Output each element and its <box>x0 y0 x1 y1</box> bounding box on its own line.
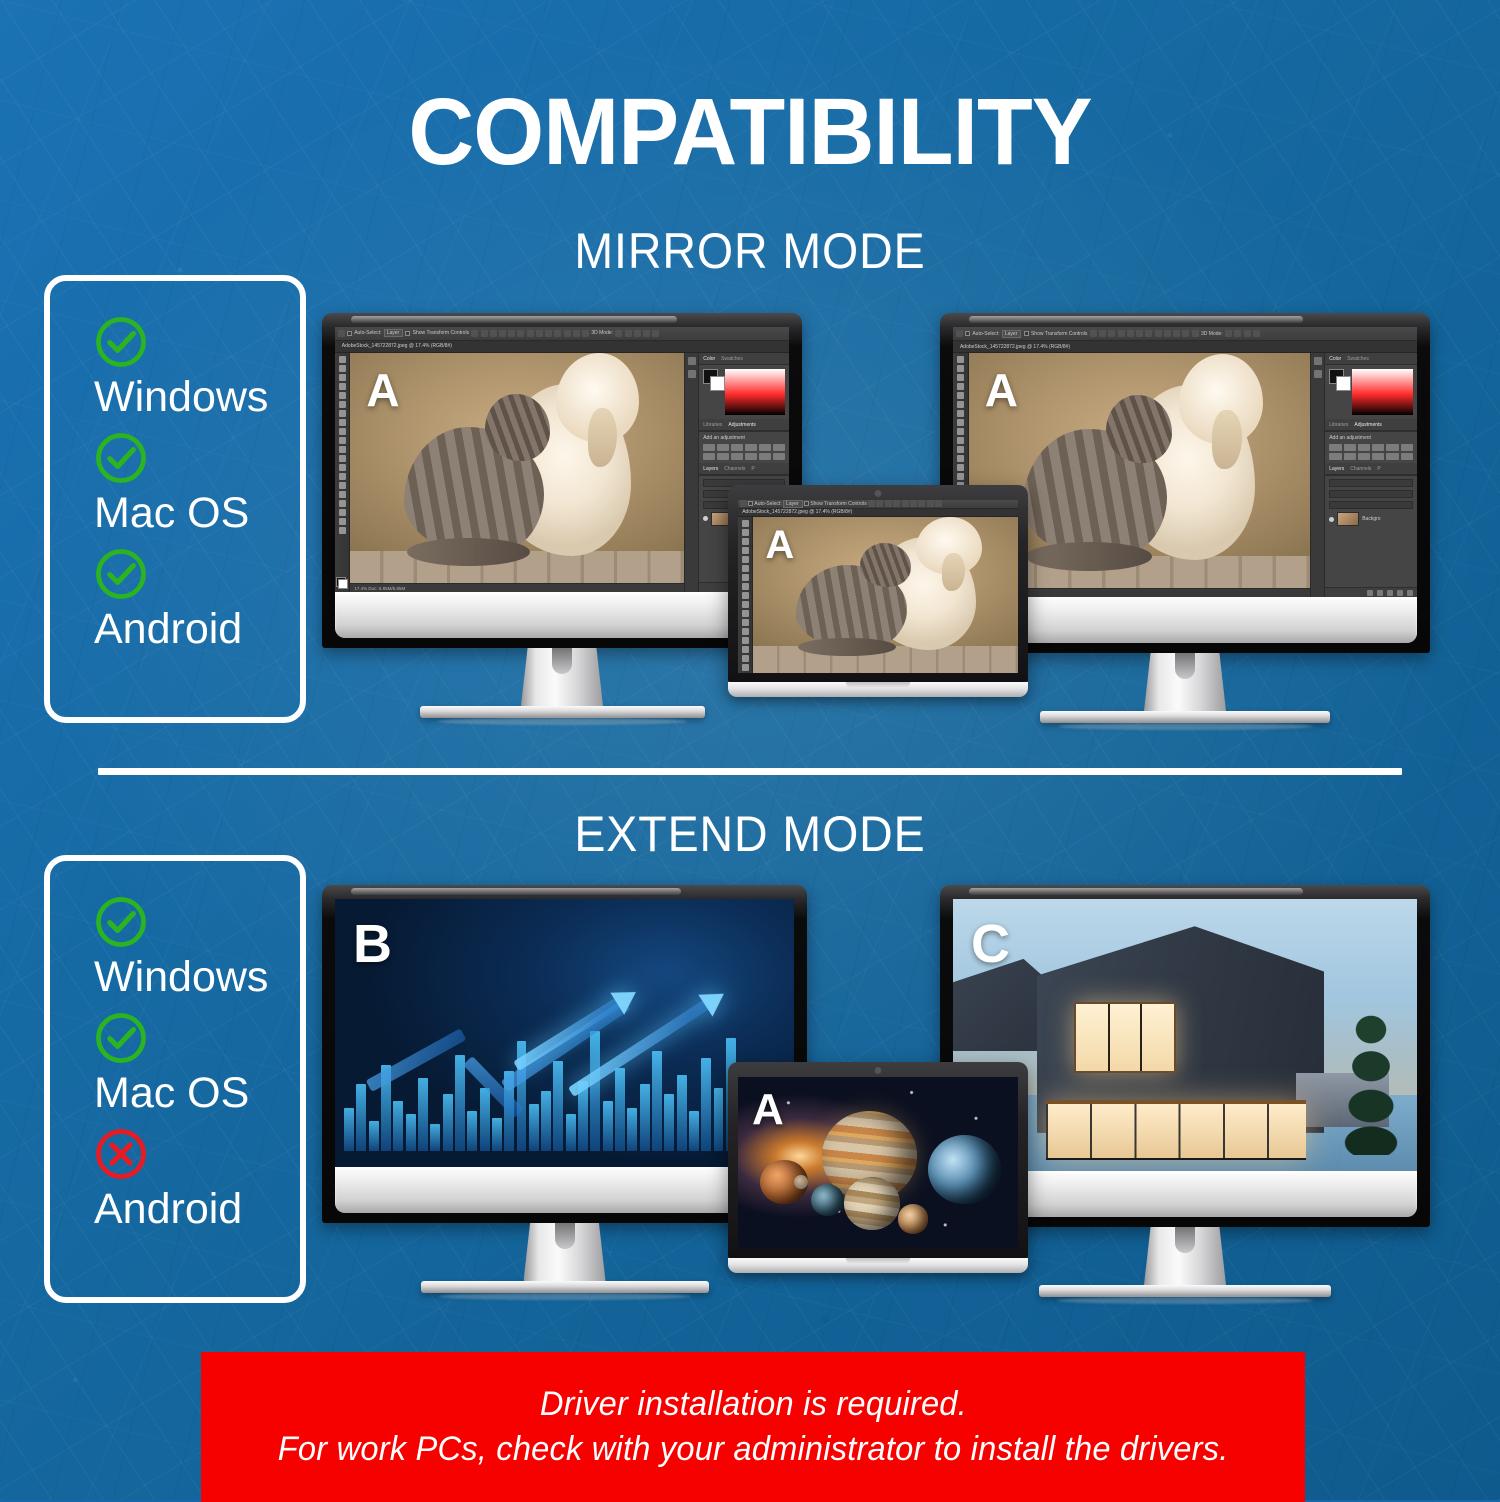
photoshop-right-rail <box>1310 353 1324 597</box>
planet-tan-moon <box>898 1204 929 1233</box>
color-tab[interactable]: Color <box>1329 356 1341 362</box>
check-circle-icon <box>94 895 148 949</box>
grid-icon[interactable] <box>935 500 942 507</box>
levels-adjustment-icon[interactable] <box>717 444 729 451</box>
distribute-left-icon[interactable] <box>527 330 534 337</box>
clone-stamp-tool-icon[interactable] <box>957 428 964 435</box>
distribute-left-icon[interactable] <box>918 500 925 507</box>
banner-line-2: For work PCs, check with your administra… <box>278 1430 1229 1469</box>
monitor-base <box>421 1281 709 1293</box>
space-planets-wallpaper: A <box>738 1077 1018 1249</box>
align-center-h-icon[interactable] <box>481 330 488 337</box>
mode-3d-label: 3D Mode: <box>591 330 613 336</box>
swatches-tab[interactable]: Swatches <box>1347 356 1369 362</box>
layers-tab[interactable]: Layers <box>703 466 718 472</box>
layer-thumbnail <box>1337 512 1359 526</box>
path-selection-tool-icon[interactable] <box>339 500 346 507</box>
eraser-tool-icon[interactable] <box>742 610 749 617</box>
os-row-android: Android <box>50 1127 300 1237</box>
align-bottom-icon[interactable] <box>1136 330 1143 337</box>
auto-select-label: Auto-Select: <box>754 501 781 507</box>
dodge-tool-icon[interactable] <box>339 473 346 480</box>
layer-style-icon[interactable] <box>1377 590 1383 596</box>
align-center-h-icon[interactable] <box>876 500 883 507</box>
move-tool-icon[interactable] <box>956 330 963 337</box>
align-bottom-icon[interactable] <box>910 500 917 507</box>
show-transform-checkbox[interactable] <box>804 501 809 506</box>
planet-earth <box>928 1135 1001 1204</box>
foreground-background-color-swatch[interactable] <box>336 577 348 589</box>
crop-tool-icon[interactable] <box>957 392 964 399</box>
photo-filter-adjustment-icon[interactable] <box>731 453 743 460</box>
show-transform-label: Show Transform Controls <box>1031 331 1087 337</box>
history-brush-tool-icon[interactable] <box>742 601 749 608</box>
rotate-3d-icon[interactable] <box>615 330 622 337</box>
photoshop-options-bar: Auto-Select: Layer Show Transform Contro… <box>738 500 1018 509</box>
adjustments-panel: Add an adjustment <box>699 431 789 463</box>
blur-tool-icon[interactable] <box>957 464 964 471</box>
paths-tab[interactable]: P <box>751 466 754 472</box>
screen-label-b: B <box>353 913 392 975</box>
hand-tool-icon[interactable] <box>339 518 346 525</box>
brush-tool-icon[interactable] <box>339 419 346 426</box>
color-panel-tabs: Color Swatches <box>699 353 789 365</box>
channels-tab[interactable]: Channels <box>724 466 745 472</box>
blend-mode-select[interactable] <box>1329 490 1413 498</box>
color-panel-tabs: Color Swatches <box>1325 353 1417 365</box>
photo-cat <box>404 427 544 556</box>
distribute-top-icon[interactable] <box>554 330 561 337</box>
section-divider <box>98 768 1402 775</box>
exposure-adjustment-icon[interactable] <box>1372 444 1384 451</box>
monitor-neck <box>521 648 603 706</box>
os-row-windows: Windows <box>50 315 300 425</box>
marquee-tool-icon[interactable] <box>742 529 749 536</box>
brush-tool-icon[interactable] <box>957 419 964 426</box>
pine-tree <box>1334 1002 1408 1154</box>
laptop-deck <box>728 1258 1028 1273</box>
path-selection-tool-icon[interactable] <box>742 664 749 671</box>
levels-adjustment-icon[interactable] <box>1344 444 1356 451</box>
channel-mixer-adjustment-icon[interactable] <box>745 453 757 460</box>
check-circle-icon <box>94 315 148 369</box>
marquee-tool-icon[interactable] <box>339 365 346 372</box>
distribute-right-icon[interactable] <box>1164 330 1171 337</box>
distribute-center-icon[interactable] <box>1155 330 1162 337</box>
color-swatch[interactable] <box>1329 369 1347 389</box>
lasso-tool-icon[interactable] <box>339 374 346 381</box>
dodge-tool-icon[interactable] <box>742 637 749 644</box>
gradient-tool-icon[interactable] <box>957 455 964 462</box>
libraries-tab[interactable]: Libraries <box>703 422 722 428</box>
os-label-macos: Mac OS <box>94 487 300 541</box>
laptop-deck <box>728 682 1028 697</box>
photoshop-panels: Color Swatches Libraries Adjustments <box>1324 353 1417 597</box>
crop-tool-icon[interactable] <box>742 556 749 563</box>
blur-tool-icon[interactable] <box>742 628 749 635</box>
align-middle-icon[interactable] <box>508 330 515 337</box>
os-label-macos: Mac OS <box>94 1067 300 1121</box>
adjustments-panel: Add an adjustment <box>1325 431 1417 463</box>
os-row-windows: Windows <box>50 895 300 1005</box>
grid-icon[interactable] <box>582 330 589 337</box>
distribute-middle-icon[interactable] <box>1182 330 1189 337</box>
eraser-tool-icon[interactable] <box>957 446 964 453</box>
monitor-neck <box>1144 653 1226 711</box>
eraser-tool-icon[interactable] <box>339 446 346 453</box>
brightness-adjustment-icon[interactable] <box>703 444 715 451</box>
photoshop-body: A <box>738 517 1018 673</box>
photo-filter-adjustment-icon[interactable] <box>1358 453 1370 460</box>
clone-stamp-tool-icon[interactable] <box>339 428 346 435</box>
document-tab[interactable]: AdobeStock_145722872.jpeg @ 17.4% (RGB/8… <box>742 509 852 515</box>
new-group-icon[interactable] <box>1387 590 1393 596</box>
color-balance-adjustment-icon[interactable] <box>1329 453 1341 460</box>
adjustments-panel-tabs: Libraries Adjustments <box>1325 419 1417 431</box>
history-brush-tool-icon[interactable] <box>957 437 964 444</box>
align-right-icon[interactable] <box>490 330 497 337</box>
color-ramp[interactable] <box>1352 369 1413 415</box>
monitor-base <box>1040 711 1330 723</box>
layer-name: Backgro <box>1362 516 1380 522</box>
lasso-tool-icon[interactable] <box>957 374 964 381</box>
photoshop-document-tabbar: AdobeStock_145722872.jpeg @ 17.4% (RGB/8… <box>335 341 789 353</box>
invert-adjustment-icon[interactable] <box>773 453 785 460</box>
pan-3d-icon[interactable] <box>1244 330 1251 337</box>
screen-label-a: A <box>765 523 794 568</box>
move-tool-icon[interactable] <box>742 520 749 527</box>
planet-moon-small <box>794 1175 808 1189</box>
photoshop-document-tabbar: AdobeStock_145722872.jpeg @ 17.4% (RGB/8… <box>738 509 1018 517</box>
history-panel-icon[interactable] <box>1314 357 1322 365</box>
color-ramp[interactable] <box>725 369 785 415</box>
align-top-icon[interactable] <box>893 500 900 507</box>
eyedropper-tool-icon[interactable] <box>339 401 346 408</box>
monitor-chin <box>335 1167 794 1213</box>
webcam-icon <box>876 1068 881 1073</box>
adjustment-icon-grid <box>703 444 785 460</box>
os-label-android: Android <box>94 603 300 657</box>
mirror-mode-heading: MIRROR MODE <box>53 222 1448 280</box>
screen-label-a: A <box>985 363 1018 417</box>
exposure-adjustment-icon[interactable] <box>745 444 757 451</box>
house-upper-windows <box>1074 1002 1176 1073</box>
roll-3d-icon[interactable] <box>625 330 632 337</box>
adjustments-tab[interactable]: Adjustments <box>728 422 756 428</box>
hue-saturation-adjustment-icon[interactable] <box>773 444 785 451</box>
auto-select-checkbox[interactable] <box>347 331 352 336</box>
photo-cat <box>796 565 907 649</box>
blur-tool-icon[interactable] <box>339 464 346 471</box>
distribute-center-icon[interactable] <box>536 330 543 337</box>
move-tool-icon[interactable] <box>957 356 964 363</box>
align-middle-icon[interactable] <box>1127 330 1134 337</box>
properties-panel-icon[interactable] <box>688 370 696 378</box>
layers-tab[interactable]: Layers <box>1329 466 1344 472</box>
distribute-top-icon[interactable] <box>1173 330 1180 337</box>
eyedropper-tool-icon[interactable] <box>742 565 749 572</box>
layers-panel-tabs: Layers Channels P <box>1325 463 1417 475</box>
eyedropper-tool-icon[interactable] <box>957 401 964 408</box>
show-transform-checkbox[interactable] <box>405 331 410 336</box>
roll-3d-icon[interactable] <box>1234 330 1241 337</box>
distribute-middle-icon[interactable] <box>564 330 571 337</box>
slide-3d-icon[interactable] <box>1253 330 1260 337</box>
monitor-screen: Auto-Select: Layer Show Transform Contro… <box>335 327 789 592</box>
align-right-icon[interactable] <box>1108 330 1115 337</box>
curves-adjustment-icon[interactable] <box>731 444 743 451</box>
monitor-neck <box>524 1223 606 1281</box>
marquee-tool-icon[interactable] <box>957 365 964 372</box>
photo-cat <box>1023 429 1166 561</box>
monitor-base-shadow <box>1058 723 1313 730</box>
layer-kind-filter[interactable] <box>1329 479 1413 487</box>
zoom-tool-icon[interactable] <box>339 527 346 534</box>
rectangle-tool-icon[interactable] <box>339 509 346 516</box>
scale-3d-icon[interactable] <box>652 330 659 337</box>
adjustments-tab[interactable]: Adjustments <box>1354 422 1382 428</box>
brightness-adjustment-icon[interactable] <box>1329 444 1341 451</box>
black-white-adjustment-icon[interactable] <box>1344 453 1356 460</box>
webcam-icon <box>876 491 881 496</box>
color-balance-adjustment-icon[interactable] <box>703 453 715 460</box>
pan-3d-icon[interactable] <box>634 330 641 337</box>
libraries-tab[interactable]: Libraries <box>1329 422 1348 428</box>
photoshop-window: Auto-Select: Layer Show Transform Contro… <box>335 327 789 592</box>
monitor-base-shadow <box>437 718 687 725</box>
distribute-bottom-icon[interactable] <box>573 330 580 337</box>
adjustments-hint: Add an adjustment <box>703 435 745 441</box>
vibrance-adjustment-icon[interactable] <box>759 444 771 451</box>
monitor-base-shadow <box>439 1293 691 1300</box>
screen-label-a: A <box>366 363 399 417</box>
adjustment-icon-grid <box>1329 444 1413 460</box>
magic-wand-tool-icon[interactable] <box>742 547 749 554</box>
swatches-tab[interactable]: Swatches <box>721 356 743 362</box>
layer-select[interactable]: Layer <box>384 329 404 337</box>
align-top-icon[interactable] <box>499 330 506 337</box>
curves-adjustment-icon[interactable] <box>1358 444 1370 451</box>
magic-wand-tool-icon[interactable] <box>339 383 346 390</box>
photoshop-canvas: A <box>753 517 1018 673</box>
mode-3d-label: 3D Mode: <box>1201 331 1223 337</box>
os-label-windows: Windows <box>94 951 300 1005</box>
check-circle-icon <box>94 431 148 485</box>
channel-mixer-adjustment-icon[interactable] <box>1372 453 1384 460</box>
layers-panel-tabs: Layers Channels P <box>699 463 789 475</box>
delete-layer-icon[interactable] <box>1407 590 1413 596</box>
distribute-left-icon[interactable] <box>1145 330 1152 337</box>
align-center-h-icon[interactable] <box>1099 330 1106 337</box>
photoshop-toolbar <box>335 353 350 592</box>
auto-select-checkbox[interactable] <box>965 331 970 336</box>
mirror-os-compatibility-panel: Windows Mac OS Android <box>44 275 306 723</box>
stock-chart-wallpaper: B <box>335 899 794 1167</box>
document-tab[interactable]: AdobeStock_145722872.jpeg @ 17.4% (RGB/8… <box>960 344 1070 350</box>
pen-tool-icon[interactable] <box>742 646 749 653</box>
type-tool-icon[interactable] <box>742 655 749 662</box>
move-tool-icon[interactable] <box>339 356 346 363</box>
healing-brush-tool-icon[interactable] <box>957 410 964 417</box>
color-panel <box>1325 365 1417 419</box>
align-bottom-icon[interactable] <box>517 330 524 337</box>
extend-os-compatibility-panel: Windows Mac OS Android <box>44 855 306 1303</box>
screen-label-a: A <box>752 1085 784 1135</box>
align-left-icon[interactable] <box>471 330 478 337</box>
check-circle-icon <box>94 1011 148 1065</box>
house-lower-windows <box>1046 1100 1306 1160</box>
monitor-base <box>420 706 705 718</box>
photoshop-options-bar: Auto-Select: Layer Show Transform Contro… <box>335 327 789 341</box>
crop-tool-icon[interactable] <box>339 392 346 399</box>
document-tab[interactable]: AdobeStock_145722872.jpeg @ 17.4% (RGB/8… <box>342 343 452 349</box>
align-right-icon[interactable] <box>885 500 892 507</box>
photoshop-options-bar: Auto-Select: Layer Show Transform Contro… <box>953 327 1417 341</box>
lock-options-row[interactable] <box>1329 501 1413 509</box>
align-middle-icon[interactable] <box>902 500 909 507</box>
monitor-screen: B <box>335 899 794 1167</box>
laptop-lid: A <box>728 1062 1028 1258</box>
color-lookup-adjustment-icon[interactable] <box>1386 453 1398 460</box>
align-left-icon[interactable] <box>868 500 875 507</box>
color-swatch[interactable] <box>703 369 721 389</box>
page-title: COMPATIBILITY <box>30 78 1470 187</box>
layer-select[interactable]: Layer <box>1002 330 1022 338</box>
screen-label-c: C <box>971 913 1010 975</box>
laptop-screen: Auto-Select: Layer Show Transform Contro… <box>738 500 1018 673</box>
layer-visibility-icon[interactable] <box>703 516 708 521</box>
slide-3d-icon[interactable] <box>643 330 650 337</box>
monitor-base <box>1039 1285 1331 1297</box>
show-transform-label: Show Transform Controls <box>810 501 866 507</box>
rotate-3d-icon[interactable] <box>1225 330 1232 337</box>
invert-adjustment-icon[interactable] <box>1401 453 1413 460</box>
photoshop-toolbar <box>738 517 753 673</box>
mirror-laptop: Auto-Select: Layer Show Transform Contro… <box>728 485 1028 697</box>
auto-select-label: Auto-Select: <box>972 331 999 337</box>
infographic-page: COMPATIBILITY MIRROR MODE Windows Mac OS… <box>0 0 1500 1500</box>
move-tool-icon[interactable] <box>338 330 345 337</box>
os-row-macos: Mac OS <box>50 431 300 541</box>
properties-panel-icon[interactable] <box>1314 370 1322 378</box>
lasso-tool-icon[interactable] <box>742 538 749 545</box>
align-left-icon[interactable] <box>1090 330 1097 337</box>
layer-row-background[interactable]: Backgro <box>1329 512 1413 526</box>
planet-saturn <box>844 1177 900 1230</box>
clone-stamp-tool-icon[interactable] <box>742 592 749 599</box>
healing-brush-tool-icon[interactable] <box>339 410 346 417</box>
black-white-adjustment-icon[interactable] <box>717 453 729 460</box>
photoshop-body: A 17.4% Doc: 6.85M/6.85M Color Swatches <box>335 353 789 592</box>
layer-visibility-icon[interactable] <box>1329 517 1334 522</box>
move-tool-icon[interactable] <box>740 500 747 507</box>
os-row-android: Android <box>50 547 300 657</box>
layers-panel: Backgro <box>1325 475 1417 587</box>
brush-tool-icon[interactable] <box>742 583 749 590</box>
type-tool-icon[interactable] <box>339 491 346 498</box>
auto-select-label: Auto-Select: <box>354 330 381 336</box>
healing-brush-tool-icon[interactable] <box>742 574 749 581</box>
vibrance-adjustment-icon[interactable] <box>1386 444 1398 451</box>
cat-and-dog-photo <box>350 353 684 592</box>
laptop-lid: Auto-Select: Layer Show Transform Contro… <box>728 485 1028 682</box>
channels-tab[interactable]: Channels <box>1350 466 1371 472</box>
color-panel <box>699 365 789 419</box>
driver-notice-banner: Driver installation is required. For wor… <box>201 1352 1305 1502</box>
show-transform-checkbox[interactable] <box>1024 331 1029 336</box>
laptop-screen: A <box>738 1077 1018 1249</box>
color-lookup-adjustment-icon[interactable] <box>759 453 771 460</box>
photoshop-canvas: A 17.4% Doc: 6.85M/6.85M <box>350 353 684 592</box>
distribute-right-icon[interactable] <box>545 330 552 337</box>
show-transform-label: Show Transform Controls <box>413 330 469 336</box>
link-layers-icon[interactable] <box>1367 590 1373 596</box>
os-label-android: Android <box>94 1183 300 1237</box>
layer-select[interactable]: Layer <box>783 500 803 508</box>
adjustments-hint: Add an adjustment <box>1329 435 1371 441</box>
magic-wand-tool-icon[interactable] <box>957 383 964 390</box>
check-circle-icon <box>94 547 148 601</box>
photoshop-window: Auto-Select: Layer Show Transform Contro… <box>738 500 1018 673</box>
gradient-tool-icon[interactable] <box>339 455 346 462</box>
history-panel-icon[interactable] <box>688 357 696 365</box>
photoshop-status-bar: 17.4% Doc: 6.85M/6.85M <box>350 583 684 592</box>
photoshop-document-tabbar: AdobeStock_145722872.jpeg @ 17.4% (RGB/8… <box>953 341 1417 353</box>
layers-panel-footer <box>1325 587 1417 597</box>
new-layer-icon[interactable] <box>1397 590 1403 596</box>
distribute-center-icon[interactable] <box>927 500 934 507</box>
monitor-base-shadow <box>1057 1297 1313 1304</box>
monitor-chin <box>335 592 789 638</box>
auto-select-checkbox[interactable] <box>748 501 753 506</box>
extend-laptop: A <box>728 1062 1028 1273</box>
paths-tab[interactable]: P <box>1377 466 1380 472</box>
monitor-neck <box>1144 1227 1226 1285</box>
hue-saturation-adjustment-icon[interactable] <box>1401 444 1413 451</box>
grid-icon[interactable] <box>1192 330 1199 337</box>
banner-line-1: Driver installation is required. <box>539 1385 966 1424</box>
align-top-icon[interactable] <box>1118 330 1125 337</box>
adjustments-panel-tabs: Libraries Adjustments <box>699 419 789 431</box>
color-tab[interactable]: Color <box>703 356 715 362</box>
os-row-macos: Mac OS <box>50 1011 300 1121</box>
dodge-tool-icon[interactable] <box>957 473 964 480</box>
history-brush-tool-icon[interactable] <box>339 437 346 444</box>
cross-circle-icon <box>94 1127 148 1181</box>
photoshop-right-rail <box>684 353 698 592</box>
pen-tool-icon[interactable] <box>339 482 346 489</box>
gradient-tool-icon[interactable] <box>742 619 749 626</box>
os-label-windows: Windows <box>94 371 300 425</box>
